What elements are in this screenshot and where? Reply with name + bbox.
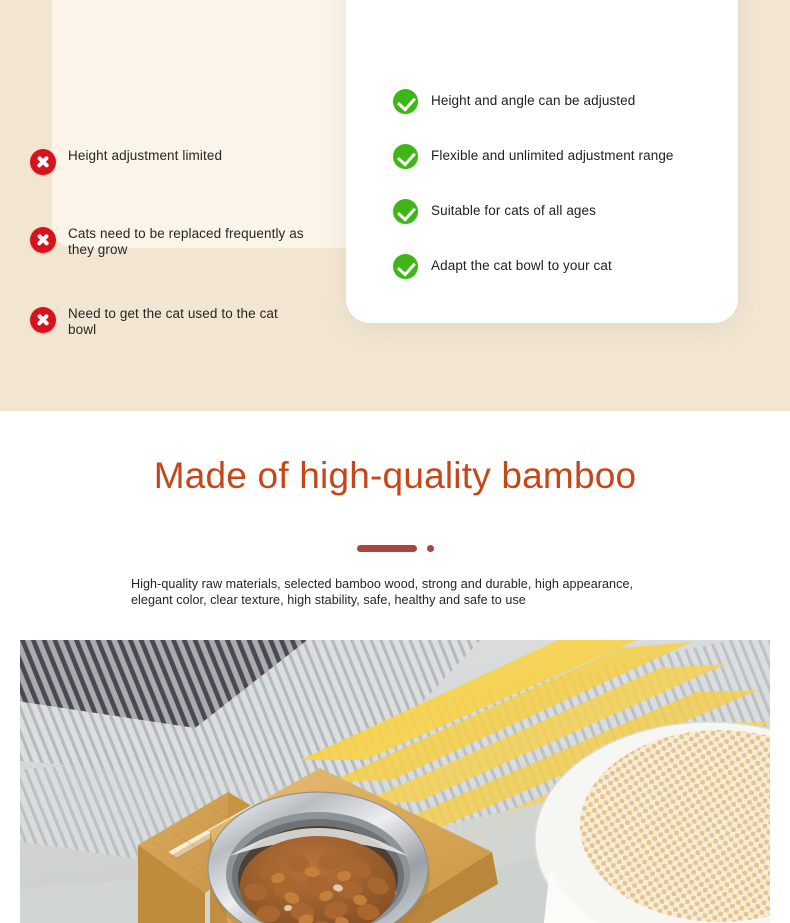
bamboo-stand-illustration (346, 0, 738, 38)
list-item: Suitable for cats of all ages (393, 196, 738, 227)
section-title: Made of high-quality bamboo (0, 455, 790, 497)
section-description: High-quality raw materials, selected bam… (131, 576, 677, 609)
cons-list: Height adjustment limited Cats need to b… (30, 148, 340, 338)
x-circle-icon (30, 227, 56, 253)
list-item: Height and angle can be adjusted (393, 86, 738, 117)
x-circle-icon (30, 149, 56, 175)
list-item: Cats need to be replaced frequently as t… (30, 226, 340, 258)
divider-dot (427, 545, 434, 552)
check-circle-icon (393, 144, 418, 169)
pros-item-label: Suitable for cats of all ages (431, 203, 596, 219)
bamboo-bowl-scene (20, 640, 770, 923)
comparison-band: Height adjustment limited Cats need to b… (0, 0, 790, 411)
list-item: Height adjustment limited (30, 148, 340, 178)
pros-item-label: Height and angle can be adjusted (431, 93, 635, 109)
cons-item-label: Height adjustment limited (68, 148, 222, 164)
divider-bar (357, 545, 417, 552)
list-item: Adapt the cat bowl to your cat (393, 251, 738, 282)
pros-item-label: Flexible and unlimited adjustment range (431, 148, 674, 164)
pros-list: Height and angle can be adjusted Flexibl… (346, 86, 738, 282)
x-circle-icon (30, 307, 56, 333)
list-item: Need to get the cat used to the cat bowl (30, 306, 340, 338)
product-photo (20, 640, 770, 923)
cons-item-label: Need to get the cat used to the cat bowl (68, 306, 308, 338)
title-divider (0, 545, 790, 552)
cons-item-label: Cats need to be replaced frequently as t… (68, 226, 308, 258)
check-circle-icon (393, 254, 418, 279)
list-item: Flexible and unlimited adjustment range (393, 141, 738, 172)
check-circle-icon (393, 199, 418, 224)
check-circle-icon (393, 89, 418, 114)
product-detail-page: Height adjustment limited Cats need to b… (0, 0, 790, 923)
pros-item-label: Adapt the cat bowl to your cat (431, 258, 612, 274)
